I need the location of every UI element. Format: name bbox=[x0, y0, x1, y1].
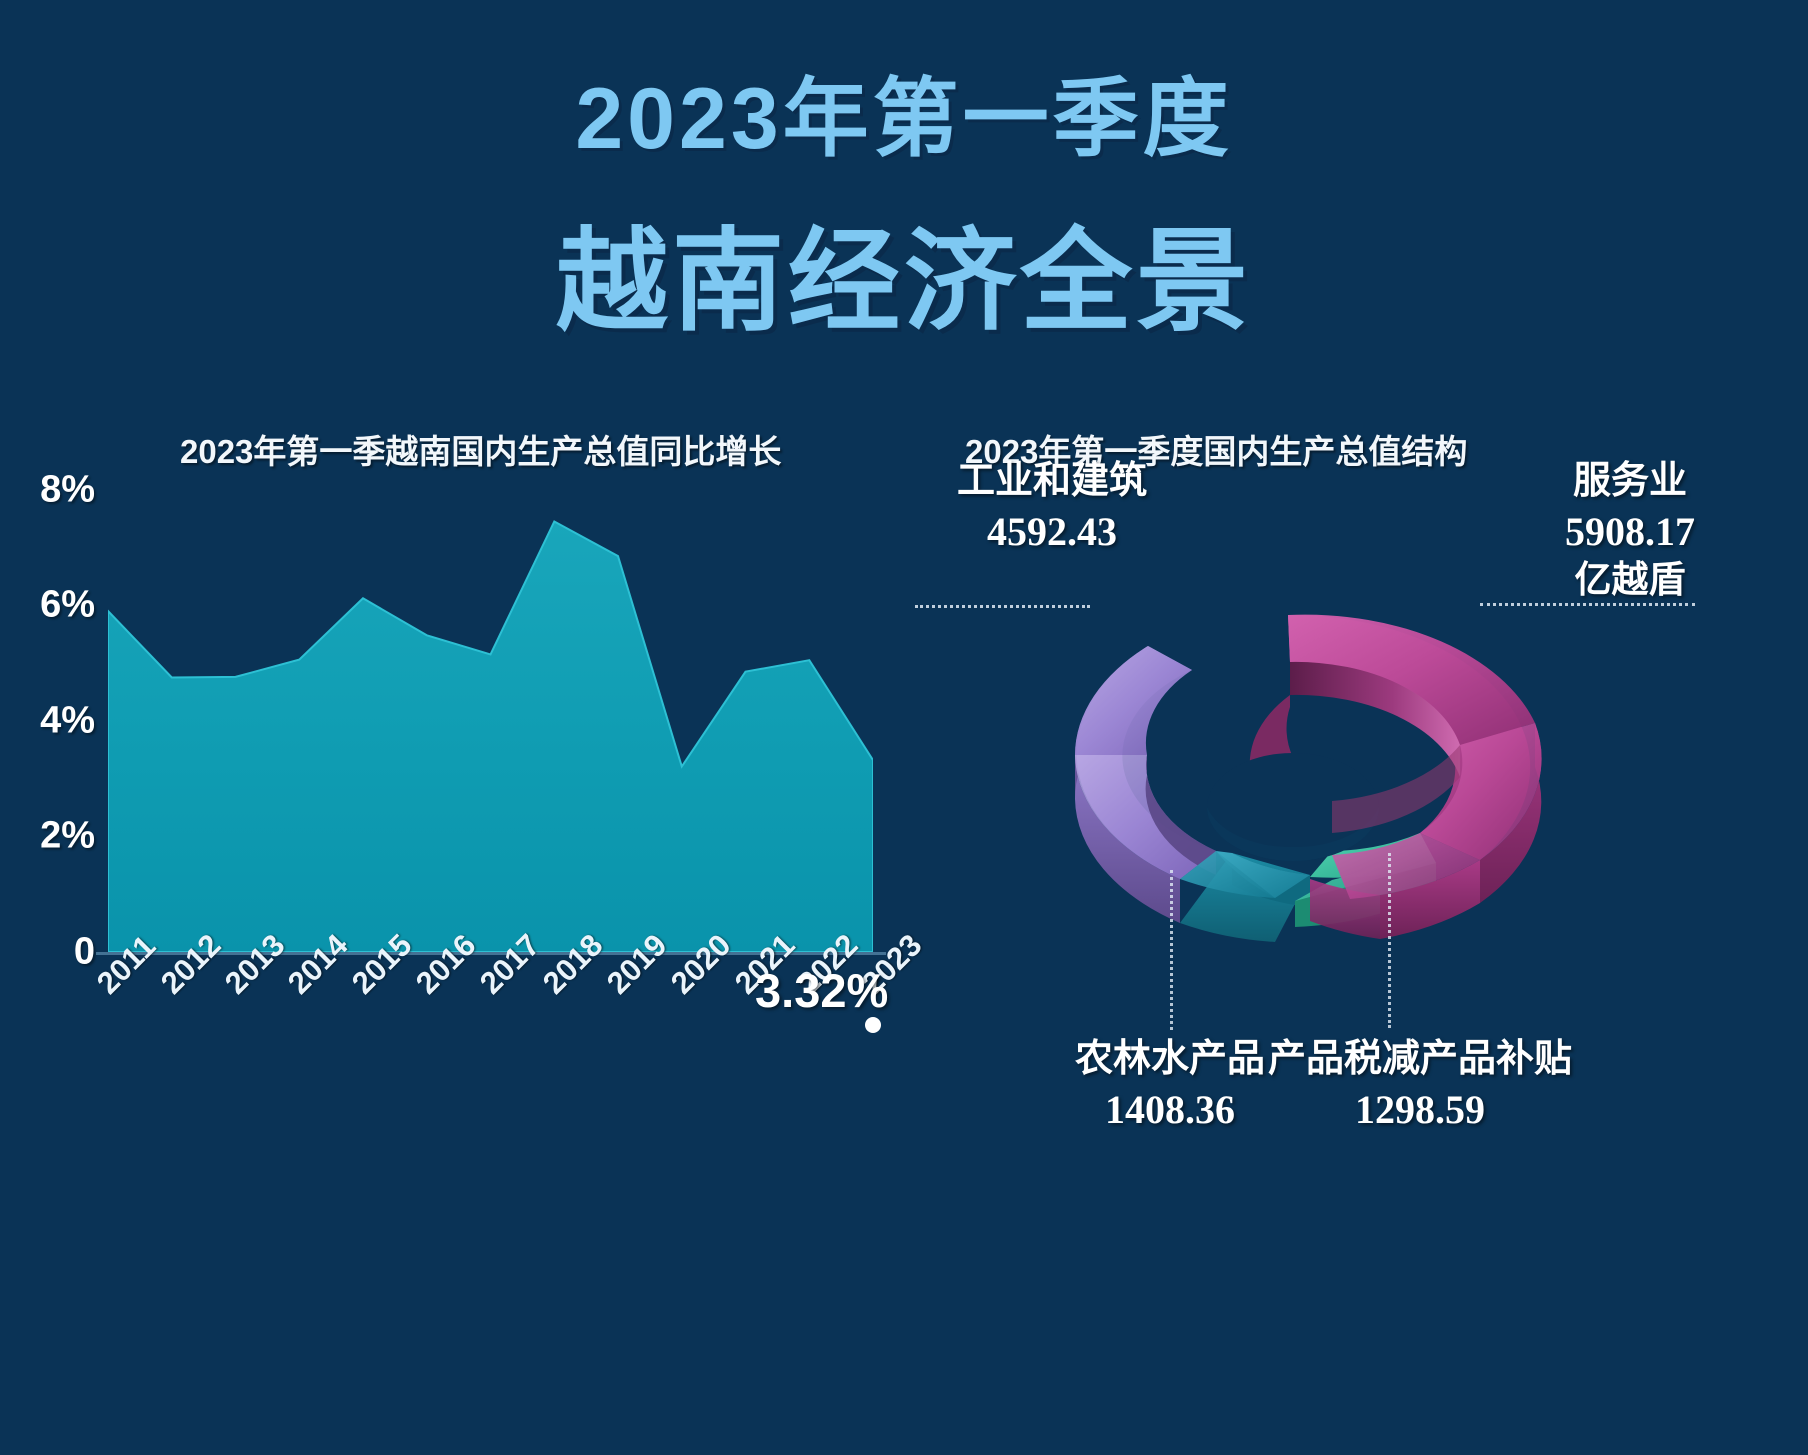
donut-label-industry-value: 4592.43 bbox=[902, 506, 1202, 557]
gdp-growth-area-chart: 02%4%6%8% 201120122013201420152016201720… bbox=[0, 455, 930, 1095]
agri-leader-dots bbox=[1170, 870, 1173, 1030]
page-title-line1: 2023年第一季度 bbox=[0, 48, 1808, 173]
y-axis-tick: 0 bbox=[15, 931, 95, 974]
donut-label-service-unit: 亿越盾 bbox=[1480, 557, 1780, 604]
donut-label-service: 服务业 5908.17 亿越盾 bbox=[1480, 457, 1780, 604]
header: 2023年第一季度 越南经济全景 bbox=[0, 0, 1808, 353]
donut-label-industry: 工业和建筑 4592.43 bbox=[902, 457, 1202, 557]
y-axis-tick: 8% bbox=[15, 468, 95, 511]
donut-label-service-name: 服务业 bbox=[1480, 457, 1780, 506]
tax-leader-dots bbox=[1388, 853, 1391, 1028]
industry-leader-dots bbox=[915, 605, 1090, 608]
gdp-structure-donut-chart: 工业和建筑 4592.43 服务业 5908.17 亿越盾 农林水产品 1408… bbox=[880, 455, 1808, 1115]
y-axis-labels: 02%4%6%8% bbox=[10, 455, 95, 945]
donut-label-tax-value: 1298.59 bbox=[1255, 1084, 1585, 1135]
donut-label-industry-name: 工业和建筑 bbox=[902, 457, 1202, 506]
area-chart-plot bbox=[108, 455, 873, 952]
area-series-shape bbox=[108, 522, 873, 953]
page-title-line2: 越南经济全景 bbox=[0, 191, 1808, 353]
callout-value-label: 3.32% bbox=[755, 963, 888, 1018]
donut-label-tax-name: 产品税减产品补贴 bbox=[1255, 1035, 1585, 1084]
donut-label-service-value: 5908.17 bbox=[1480, 506, 1780, 557]
y-axis-tick: 4% bbox=[15, 699, 95, 742]
y-axis-tick: 6% bbox=[15, 584, 95, 627]
donut-label-tax: 产品税减产品补贴 1298.59 bbox=[1255, 1035, 1585, 1135]
y-axis-tick: 2% bbox=[15, 815, 95, 858]
